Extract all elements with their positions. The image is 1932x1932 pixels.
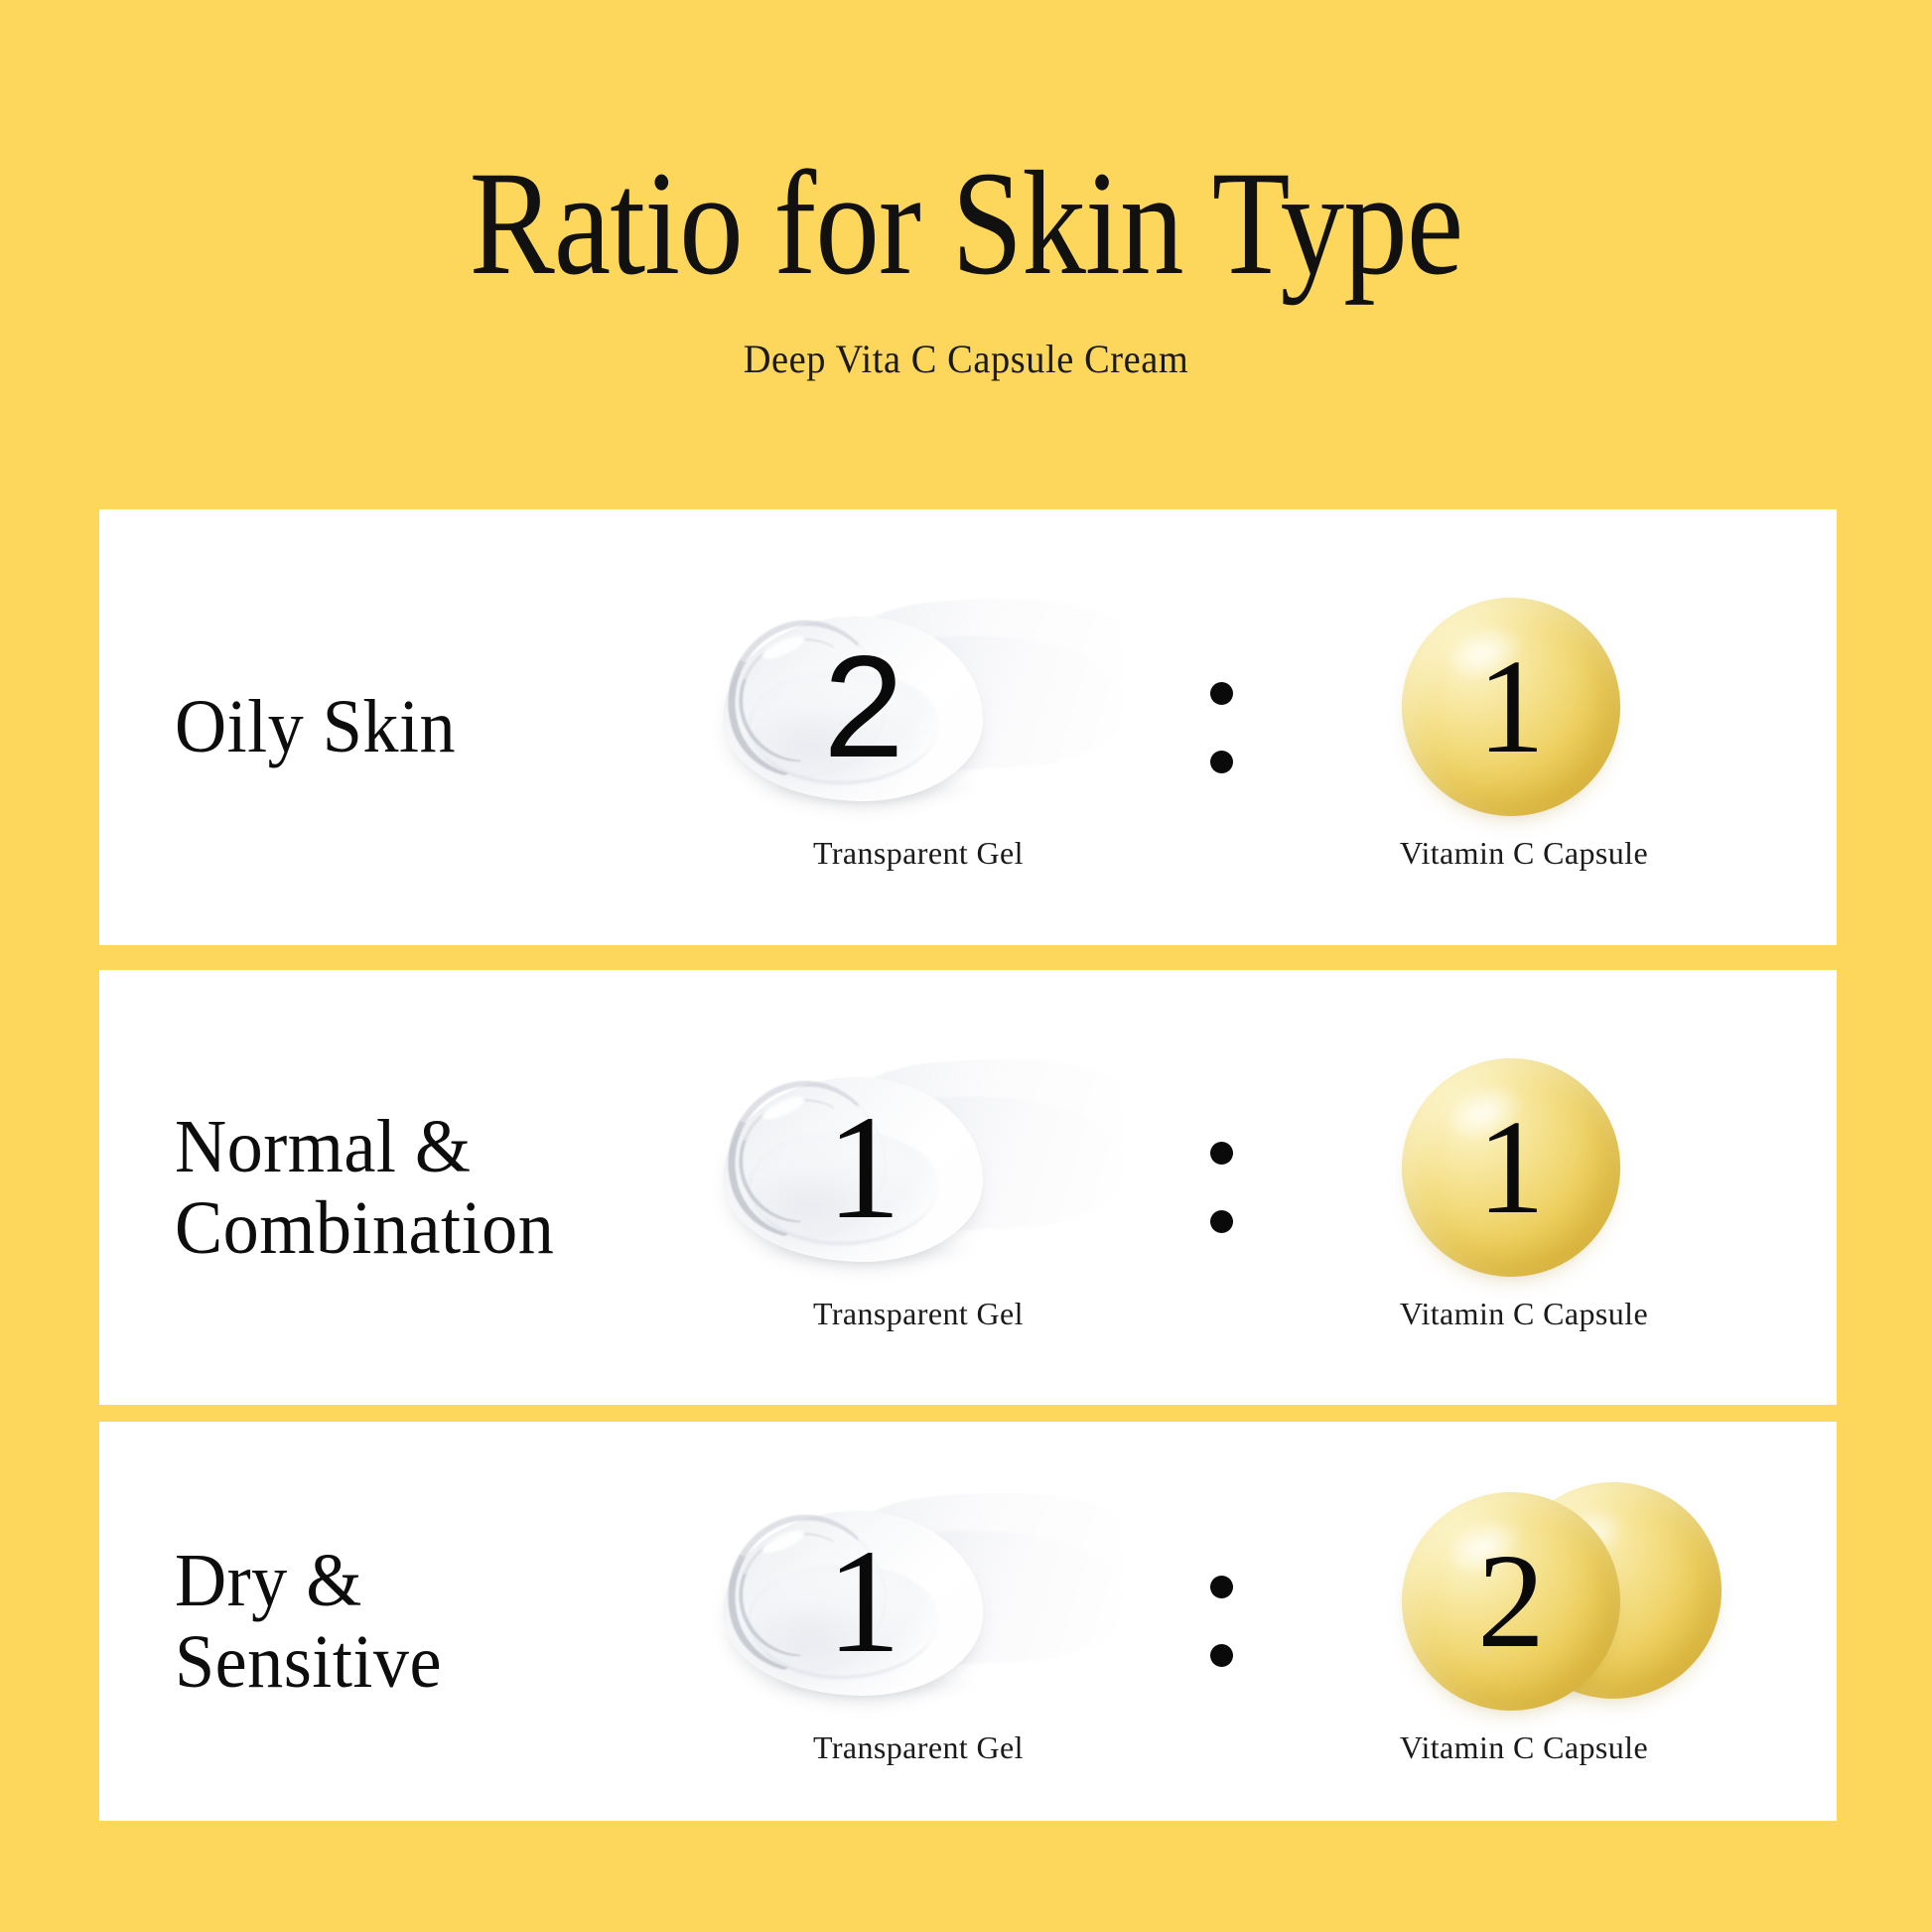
gel-ratio-value: 1	[705, 1477, 1132, 1725]
gel-ratio-value: 1	[705, 1043, 1132, 1292]
gel-caption: Transparent Gel	[813, 1729, 1024, 1766]
capsule-caption: Vitamin C Capsule	[1400, 1729, 1648, 1766]
skin-type-line-2: Sensitive	[175, 1621, 675, 1703]
page-title: Ratio for Skin Type	[135, 149, 1797, 298]
skin-type-label: Oily Skin	[99, 686, 675, 767]
ratio-separator	[1132, 1063, 1311, 1311]
gel-visual: 2	[705, 583, 1132, 831]
ingredient-vitamin-c-capsule: 1 Vitamin C Capsule	[1311, 509, 1737, 945]
ratio-row-oily-skin: Oily Skin 2 Transparent Gel	[99, 509, 1837, 945]
colon-dot-top	[1210, 1142, 1233, 1165]
ingredient-vitamin-c-capsule: 2 Vitamin C Capsule	[1311, 1422, 1737, 1821]
colon-dot-top	[1210, 682, 1233, 705]
colon-dot-bottom	[1210, 751, 1233, 773]
ratio-card-list: Oily Skin 2 Transparent Gel	[99, 509, 1837, 1821]
skin-type-label: Dry & Sensitive	[99, 1540, 675, 1703]
capsule-ratio-value: 1	[1402, 1058, 1620, 1277]
colon-dot-bottom	[1210, 1210, 1233, 1233]
skin-type-label: Normal & Combination	[99, 1106, 675, 1269]
capsule-visual: 2	[1311, 1477, 1737, 1725]
ratio-separator	[1132, 1497, 1311, 1745]
ratio-separator	[1132, 604, 1311, 852]
capsule-visual: 1	[1311, 583, 1737, 831]
gel-visual: 1	[705, 1477, 1132, 1725]
capsule-visual: 1	[1311, 1043, 1737, 1292]
page-subtitle: Deep Vita C Capsule Cream	[39, 336, 1893, 382]
ingredient-transparent-gel: 2 Transparent Gel	[705, 509, 1132, 945]
gel-caption: Transparent Gel	[813, 835, 1024, 872]
skin-type-line-2: Combination	[175, 1187, 675, 1269]
ingredient-transparent-gel: 1 Transparent Gel	[705, 970, 1132, 1405]
capsule-caption: Vitamin C Capsule	[1400, 1296, 1648, 1332]
capsule-caption: Vitamin C Capsule	[1400, 835, 1648, 872]
capsule-ratio-value: 1	[1402, 598, 1620, 816]
ingredient-vitamin-c-capsule: 1 Vitamin C Capsule	[1311, 970, 1737, 1405]
skin-type-line-1: Oily Skin	[175, 685, 456, 768]
skin-type-line-1: Normal &	[175, 1105, 472, 1188]
colon-dot-bottom	[1210, 1644, 1233, 1667]
ratio-row-dry-sensitive: Dry & Sensitive 1 Transparent Gel	[99, 1422, 1837, 1821]
skin-type-line-1: Dry &	[175, 1539, 362, 1622]
gel-visual: 1	[705, 1043, 1132, 1292]
capsule-ratio-value: 2	[1402, 1492, 1620, 1711]
colon-dot-top	[1210, 1576, 1233, 1598]
ingredient-transparent-gel: 1 Transparent Gel	[705, 1422, 1132, 1821]
header: Ratio for Skin Type Deep Vita C Capsule …	[0, 0, 1932, 382]
ratio-row-normal-combination: Normal & Combination 1 Transparent Gel	[99, 970, 1837, 1405]
gel-ratio-value: 2	[705, 583, 1132, 831]
gel-caption: Transparent Gel	[813, 1296, 1024, 1332]
